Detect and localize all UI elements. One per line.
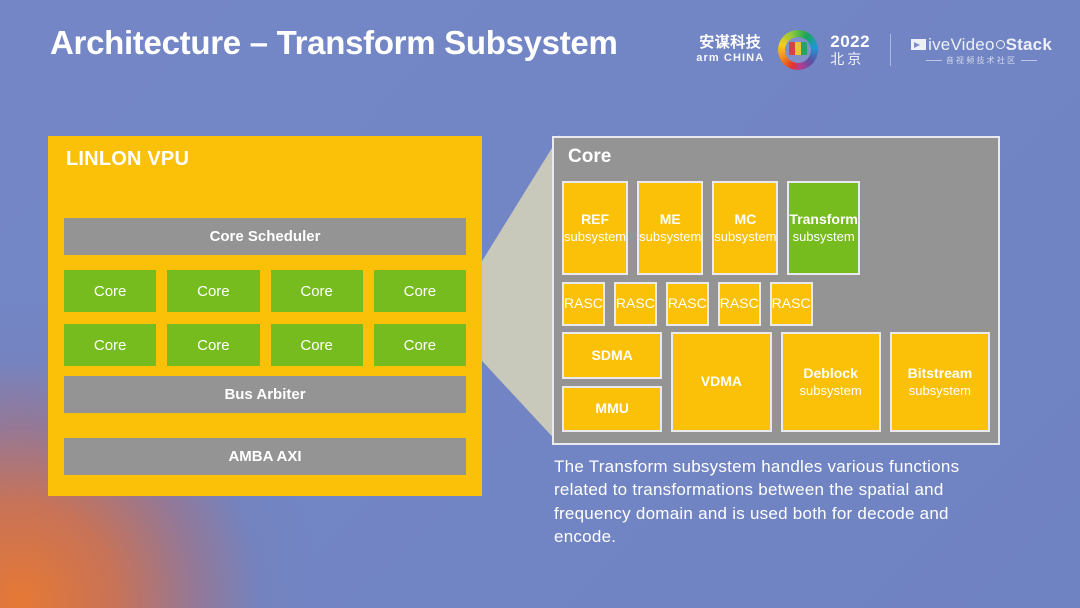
mc-subsystem-name: MC (734, 211, 756, 229)
core-block: Core (167, 270, 259, 312)
bus-arbiter-block: Bus Arbiter (64, 376, 466, 413)
transform-subsystem-name: Transform (789, 211, 857, 229)
mc-subsystem-block: MC subsystem (712, 181, 778, 275)
logo-bar: 安谋科技 arm CHINA 2022 北京 iveVideoStack 音视频… (696, 26, 1052, 74)
lvs-stack-label: Stack (1006, 35, 1052, 55)
rasc-row: RASC RASC RASC RASC RASC (562, 282, 990, 326)
rasc-label: RASC (772, 295, 811, 313)
me-subsystem-sub: subsystem (639, 229, 701, 245)
linlon-vpu-title: LINLON VPU (66, 148, 189, 171)
subsystem-row: REF subsystem ME subsystem MC subsystem … (562, 181, 990, 275)
linlon-vpu-panel: LINLON VPU Core Scheduler Core Core Core… (48, 136, 482, 496)
event-city-label: 北京 (830, 52, 870, 67)
core-panel-title: Core (568, 146, 611, 168)
rasc-label: RASC (668, 295, 707, 313)
event-ring-icon (778, 30, 818, 70)
core-block: Core (374, 270, 466, 312)
me-subsystem-name: ME (660, 211, 681, 229)
livevideostack-subtitle: 音视频技术社区 (946, 56, 1017, 65)
rasc-block: RASC (666, 282, 709, 326)
sdma-mmu-column: SDMA MMU (562, 332, 662, 432)
deblock-subsystem-block: Deblock subsystem (781, 332, 881, 432)
core-block: Core (64, 324, 156, 366)
vdma-label: VDMA (701, 373, 742, 391)
core-detail-panel: Core REF subsystem ME subsystem MC subsy… (552, 136, 1000, 445)
bitstream-subsystem-name: Bitstream (908, 365, 973, 383)
deblock-subsystem-name: Deblock (803, 365, 857, 383)
lvs-dot-icon (996, 40, 1005, 49)
rasc-label: RASC (564, 295, 603, 313)
logo-divider (890, 34, 891, 66)
vdma-column: VDMA (671, 332, 771, 432)
subtitle-rule-left (926, 60, 942, 61)
rasc-label: RASC (616, 295, 655, 313)
ring-chip-icon (789, 42, 807, 55)
ref-subsystem-block: REF subsystem (562, 181, 628, 275)
livevideostack-subtitle-row: 音视频技术社区 (926, 56, 1037, 65)
core-scheduler-block: Core Scheduler (64, 218, 466, 255)
rasc-block: RASC (562, 282, 605, 326)
ref-subsystem-sub: subsystem (564, 229, 626, 245)
livevideostack-wordmark: iveVideoStack (911, 35, 1052, 55)
sdma-label: SDMA (592, 347, 633, 365)
mmu-block: MMU (562, 386, 662, 433)
bitstream-subsystem-block: Bitstream subsystem (890, 332, 990, 432)
bitstream-subsystem-sub: subsystem (909, 383, 971, 399)
deblock-column: Deblock subsystem (781, 332, 881, 432)
transform-subsystem-sub: subsystem (793, 229, 855, 245)
lvs-live-label: ive (928, 35, 950, 55)
subtitle-rule-right (1021, 60, 1037, 61)
event-year-block: 2022 北京 (830, 33, 870, 67)
me-subsystem-block: ME subsystem (637, 181, 703, 275)
core-row-2: Core Core Core Core (64, 324, 466, 366)
rasc-block: RASC (718, 282, 761, 326)
amba-axi-block: AMBA AXI (64, 438, 466, 475)
vdma-block: VDMA (671, 332, 771, 432)
core-block: Core (271, 270, 363, 312)
arm-china-chinese-label: 安谋科技 (699, 35, 761, 51)
transform-caption: The Transform subsystem handles various … (554, 455, 1006, 549)
core-block: Core (64, 270, 156, 312)
lvs-video-label: Video (950, 35, 994, 55)
livevideostack-logo: iveVideoStack 音视频技术社区 (911, 35, 1052, 66)
ref-subsystem-name: REF (581, 211, 609, 229)
event-year-label: 2022 (830, 33, 870, 52)
rasc-label: RASC (720, 295, 759, 313)
arm-china-english-label: arm CHINA (696, 53, 764, 65)
core-block: Core (167, 324, 259, 366)
bitstream-column: Bitstream subsystem (890, 332, 990, 432)
rasc-block: RASC (770, 282, 813, 326)
deblock-subsystem-sub: subsystem (800, 383, 862, 399)
play-mark-icon (911, 39, 926, 50)
page-title: Architecture – Transform Subsystem (50, 24, 618, 62)
bottom-row: SDMA MMU VDMA Deblock subsystem Bits (562, 332, 990, 432)
mc-subsystem-sub: subsystem (714, 229, 776, 245)
arm-china-logo: 安谋科技 arm CHINA (696, 35, 764, 64)
core-row-1: Core Core Core Core (64, 270, 466, 312)
core-block: Core (271, 324, 363, 366)
slide-canvas: Architecture – Transform Subsystem 安谋科技 … (0, 0, 1080, 608)
mmu-label: MMU (595, 400, 628, 418)
transform-subsystem-block: Transform subsystem (787, 181, 859, 275)
rasc-block: RASC (614, 282, 657, 326)
sdma-block: SDMA (562, 332, 662, 379)
core-block: Core (374, 324, 466, 366)
